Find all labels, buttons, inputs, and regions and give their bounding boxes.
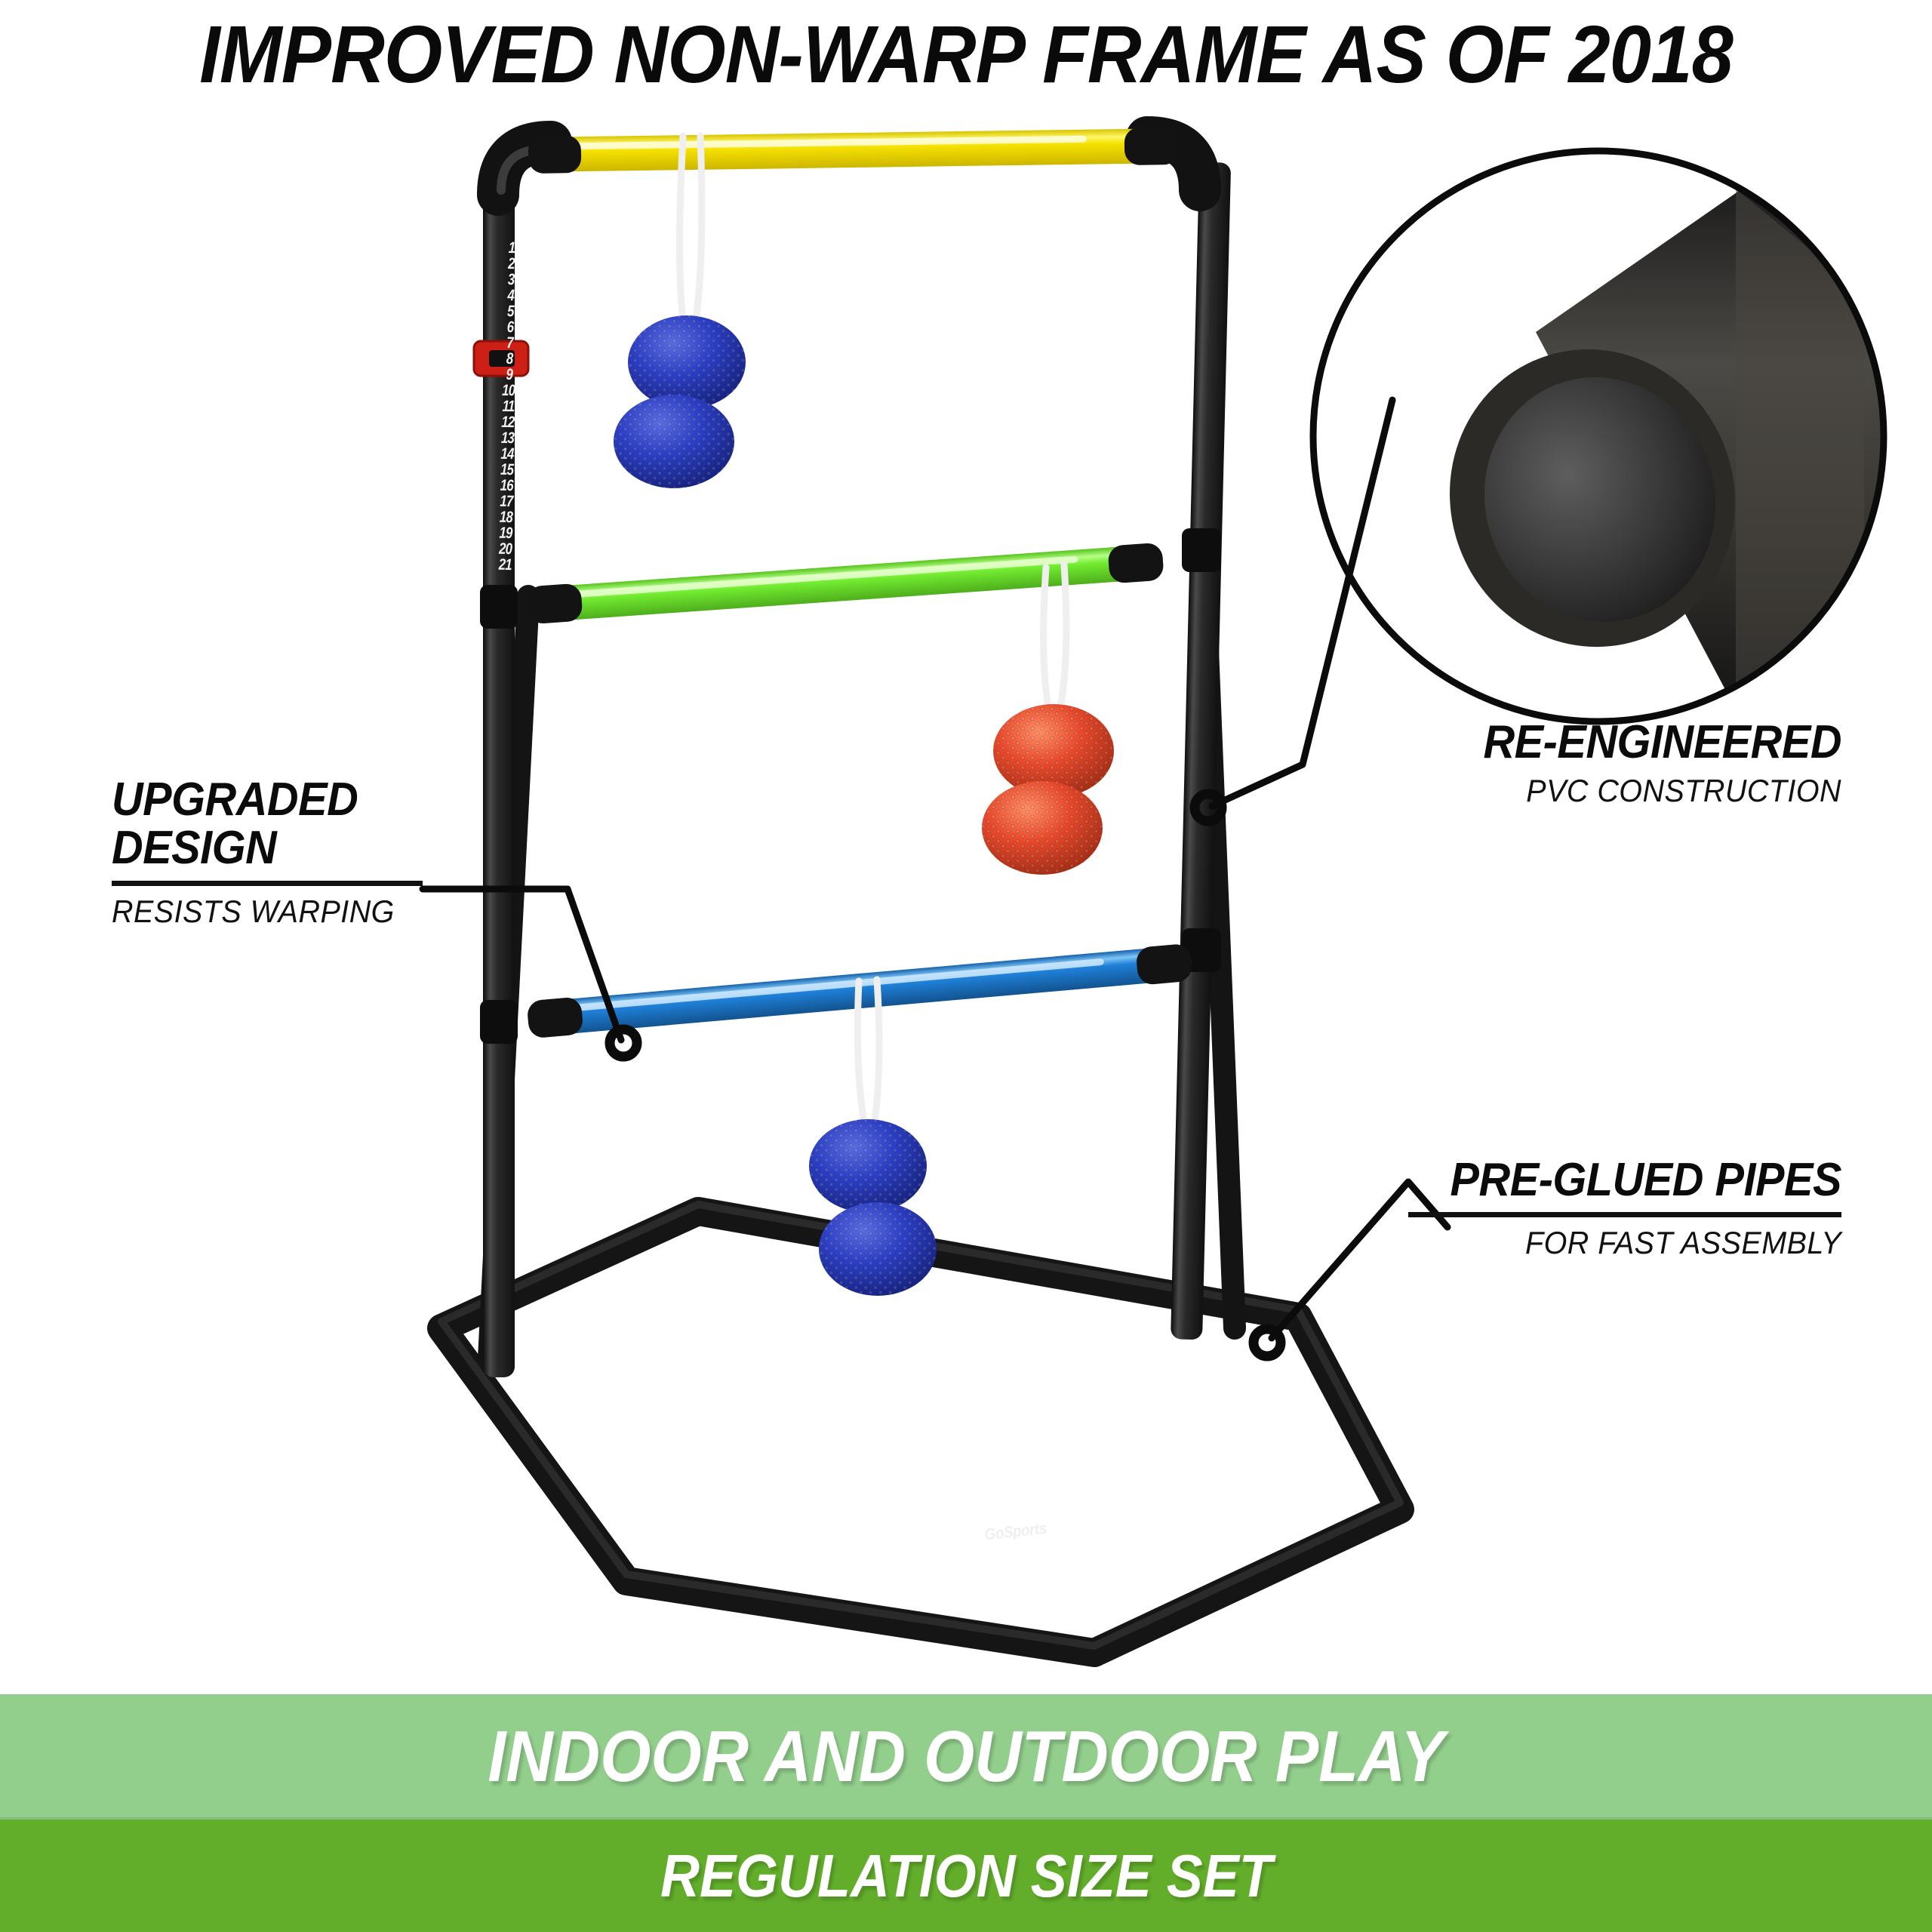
ruler-tick: 10 [502,383,515,398]
callout-pre-glued-pipes-rule [1408,1212,1841,1217]
ruler-tick: 9 [506,367,512,383]
score-ruler: 1 2 3 4 5 6 7 8 9 10 11 12 13 14 15 16 1… [488,240,529,543]
ruler-tick: 21 [499,557,512,573]
banner-regulation-size-text: REGULATION SIZE SET [660,1846,1272,1906]
ruler-tick: 5 [507,303,514,319]
ruler-tick: 4 [507,288,514,303]
ruler-tick: 3 [507,272,514,288]
ruler-tick: 8 [506,351,512,367]
ruler-tick: 18 [500,509,512,525]
endpoint-pre-glued-pipes [1254,1329,1281,1356]
banner-indoor-outdoor: INDOOR AND OUTDOOR PLAY [0,1694,1932,1820]
leader-lines [423,400,1447,1338]
callout-re-engineered: RE-ENGINEERED PVC CONSTRUCTION [1374,718,1841,808]
ruler-tick: 2 [508,256,515,272]
ruler-tick: 11 [502,398,514,414]
ruler-tick: 20 [499,541,512,557]
ruler-tick: 19 [500,525,512,541]
callout-re-engineered-subtitle: PVC CONSTRUCTION [1401,774,1841,808]
callout-upgraded-design-subtitle: RESISTS WARPING [112,895,404,928]
ruler-tick: 1 [508,240,515,256]
ruler-tick: 15 [500,462,513,478]
callout-pre-glued-pipes-title: PRE-GLUED PIPES [1438,1156,1841,1204]
endpoint-upgraded-design [610,1029,637,1057]
product-illustration [0,0,1932,1932]
callout-pre-glued-pipes-subtitle: FOR FAST ASSEMBLY [1434,1226,1841,1260]
banner-regulation-size: REGULATION SIZE SET [0,1820,1932,1932]
callout-upgraded-design: UPGRADED DESIGN RESISTS WARPING [112,776,423,928]
ruler-tick: 7 [506,335,513,351]
callout-upgraded-design-title: UPGRADED DESIGN [112,776,401,873]
ruler-tick: 12 [501,414,514,430]
banner-indoor-outdoor-text: INDOOR AND OUTDOOR PLAY [488,1721,1444,1793]
infographic-canvas: IMPROVED NON-WARP FRAME AS OF 2018 [0,0,1932,1932]
ruler-tick: 6 [506,319,513,335]
callout-pre-glued-pipes: PRE-GLUED PIPES FOR FAST ASSEMBLY [1408,1156,1841,1260]
bola-blue-bottom-balls [804,1117,943,1298]
bola-blue-top-balls [611,313,751,491]
callout-re-engineered-title: RE-ENGINEERED [1406,718,1841,767]
callout-upgraded-design-rule [112,881,423,886]
pvc-pipe-closeup-inset [1313,151,1932,724]
ruler-tick: 13 [501,430,514,446]
bola-orange-middle-balls [979,702,1122,877]
ruler-tick: 14 [501,446,514,462]
ruler-tick: 17 [500,494,512,509]
rung-top [528,127,1180,174]
ruler-tick: 16 [500,478,513,494]
